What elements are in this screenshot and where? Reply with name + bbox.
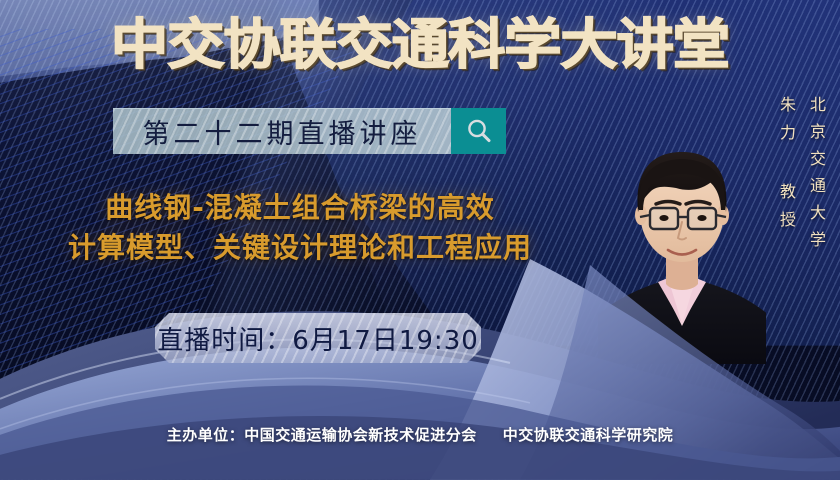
broadcast-time-text: 直播时间：6月17日19:30 [157, 320, 479, 357]
footer-organizers: 主办单位：中国交通运输协会新技术促进分会中交协联交通科学研究院 [0, 424, 840, 445]
lecture-title: 曲线钢-混凝土组合桥梁的高效 计算模型、关键设计理论和工程应用 [0, 188, 600, 268]
speaker-organization: 北京交通大学 [804, 96, 828, 258]
lecture-title-line-2: 计算模型、关键设计理论和工程应用 [0, 228, 600, 268]
episode-label: 第二十二期直播讲座 [143, 112, 422, 151]
search-icon [464, 116, 494, 146]
footer-org-2: 中交协联交通科学研究院 [503, 426, 674, 444]
speaker-name: 朱力 教授 [774, 96, 798, 239]
silk-wave-decoration [0, 259, 840, 480]
broadcast-time-banner: 直播时间：6月17日19:30 [155, 313, 481, 363]
speaker-info: 朱力 教授 北京交通大学 [774, 96, 828, 258]
lecture-title-line-1: 曲线钢-混凝土组合桥梁的高效 [0, 188, 600, 228]
live-lecture-poster: 中交协联交通科学大讲堂 第二十二期直播讲座 曲线钢-混凝土组合桥梁的高效 计算模… [0, 0, 840, 480]
episode-search-bar[interactable]: 第二十二期直播讲座 [113, 108, 451, 154]
footer-org-1: 中国交通运输协会新技术促进分会 [244, 426, 477, 444]
search-button[interactable] [451, 108, 506, 154]
page-title: 中交协联交通科学大讲堂 [0, 16, 840, 73]
footer-label: 主办单位： [167, 426, 245, 444]
